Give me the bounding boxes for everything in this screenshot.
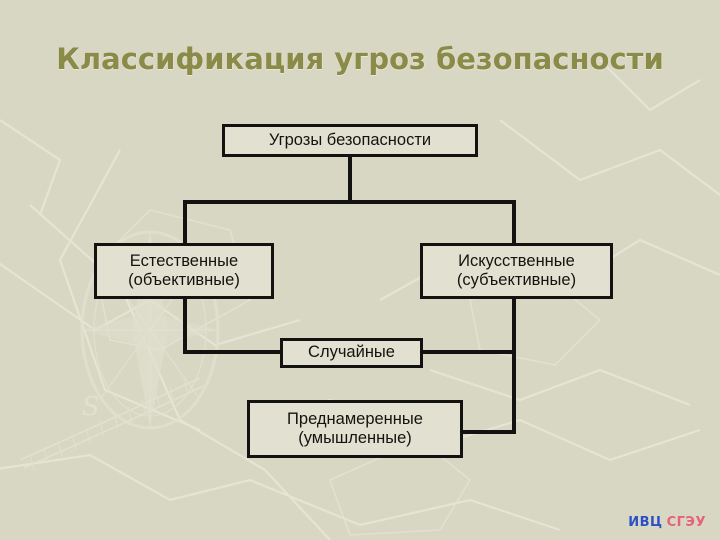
logo-text-ivc: ИВЦ <box>628 515 662 530</box>
logo-text-sgeu: СГЭУ <box>667 515 706 530</box>
connector-natural-to-random <box>183 350 282 354</box>
node-label-line1: Преднамеренные <box>287 410 423 429</box>
node-label-line1: Угрозы безопасности <box>269 131 431 150</box>
connector-root-to-bus <box>348 157 352 203</box>
node-artificial-threats: Искусственные (субъективные) <box>420 243 613 299</box>
node-label-line1: Случайные <box>308 343 395 362</box>
connector-artificial-to-deliberate <box>461 430 516 434</box>
connector-natural-down <box>183 297 187 354</box>
node-natural-threats: Естественные (объективные) <box>94 243 274 299</box>
svg-text:S: S <box>82 392 100 422</box>
connector-artificial-to-random <box>421 350 516 354</box>
connector-bus-to-natural <box>183 200 187 245</box>
slide-canvas: S Классификация угроз безопасности Угроз… <box>0 0 720 540</box>
connector-bus-to-artificial <box>512 200 516 245</box>
node-label-line2: (объективные) <box>128 271 240 290</box>
node-random-threats: Случайные <box>280 338 423 368</box>
connector-horizontal-bus <box>183 200 516 204</box>
node-label-line2: (субъективные) <box>457 271 576 290</box>
node-label-line1: Естественные <box>130 252 238 271</box>
node-deliberate-threats: Преднамеренные (умышленные) <box>247 400 463 458</box>
node-label-line2: (умышленные) <box>298 429 412 448</box>
connector-artificial-down <box>512 297 516 434</box>
node-security-threats: Угрозы безопасности <box>222 124 478 157</box>
node-label-line1: Искусственные <box>458 252 575 271</box>
slide-title: Классификация угроз безопасности <box>0 42 720 76</box>
organization-logo: ИВЦСГЭУ <box>628 515 706 530</box>
